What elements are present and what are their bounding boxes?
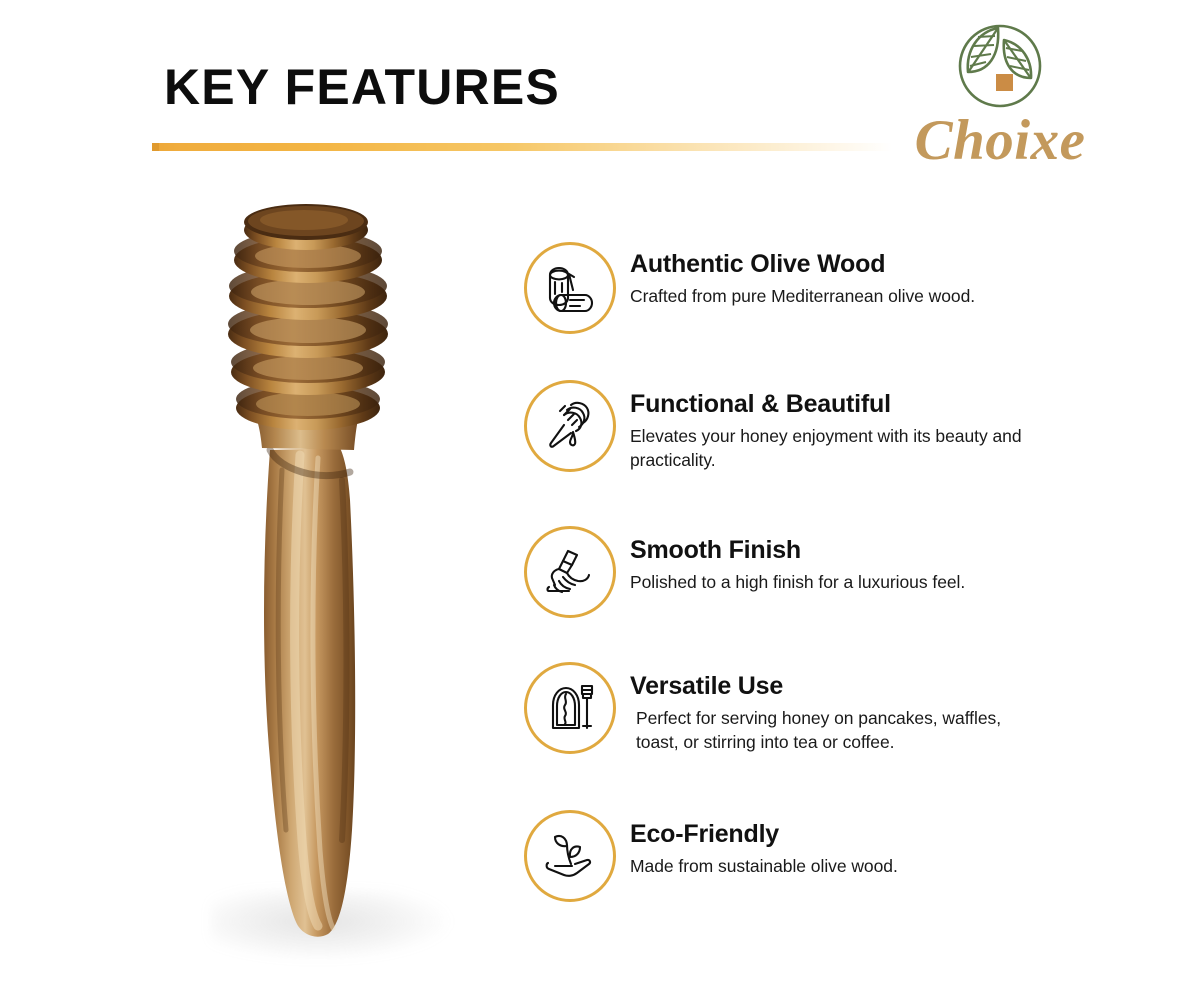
feature-description: Elevates your honey enjoyment with its b… — [630, 424, 1050, 472]
feature-title: Authentic Olive Wood — [630, 250, 1124, 279]
feature-description: Polished to a high finish for a luxuriou… — [630, 570, 1124, 594]
feature-item-authentic-olive-wood: Authentic Olive Wood Crafted from pure M… — [524, 240, 1124, 380]
leaf-circle-logo-icon — [952, 16, 1048, 112]
feature-text: Smooth Finish Polished to a high finish … — [630, 526, 1124, 594]
key-features-page: KEY FEATURES Choixe — [0, 0, 1200, 1000]
feature-description: Crafted from pure Mediterranean olive wo… — [630, 284, 1124, 308]
feature-text: Functional & Beautiful Elevates your hon… — [630, 380, 1124, 472]
hand-holding-sprout-icon — [524, 810, 616, 902]
feature-text: Versatile Use Perfect for serving honey … — [630, 662, 1124, 754]
feature-description: Made from sustainable olive wood. — [630, 854, 1124, 878]
feature-item-smooth-finish: Smooth Finish Polished to a high finish … — [524, 526, 1124, 662]
bread-with-dipper-icon — [524, 662, 616, 754]
feature-title: Functional & Beautiful — [630, 390, 1124, 419]
honey-dipper-icon — [524, 380, 616, 472]
feature-title: Versatile Use — [630, 672, 1124, 701]
product-image — [150, 200, 510, 970]
hand-polishing-icon — [524, 526, 616, 618]
feature-item-versatile-use: Versatile Use Perfect for serving honey … — [524, 662, 1124, 810]
feature-item-functional-beautiful: Functional & Beautiful Elevates your hon… — [524, 380, 1124, 526]
title-accent-rule — [152, 143, 892, 151]
olive-wood-honey-dipper-illustration — [150, 200, 510, 970]
feature-item-eco-friendly: Eco-Friendly Made from sustainable olive… — [524, 810, 1124, 930]
feature-text: Eco-Friendly Made from sustainable olive… — [630, 810, 1124, 878]
feature-title: Smooth Finish — [630, 536, 1124, 565]
feature-title: Eco-Friendly — [630, 820, 1124, 849]
title-accent-rule-cap — [152, 143, 159, 151]
feature-description: Perfect for serving honey on pancakes, w… — [630, 706, 1040, 754]
page-title: KEY FEATURES — [164, 58, 560, 116]
brand-logo: Choixe — [900, 16, 1100, 186]
brand-wordmark: Choixe — [900, 112, 1100, 169]
features-list: Authentic Olive Wood Crafted from pure M… — [524, 240, 1124, 930]
feature-text: Authentic Olive Wood Crafted from pure M… — [630, 240, 1124, 308]
wood-logs-icon — [524, 242, 616, 334]
